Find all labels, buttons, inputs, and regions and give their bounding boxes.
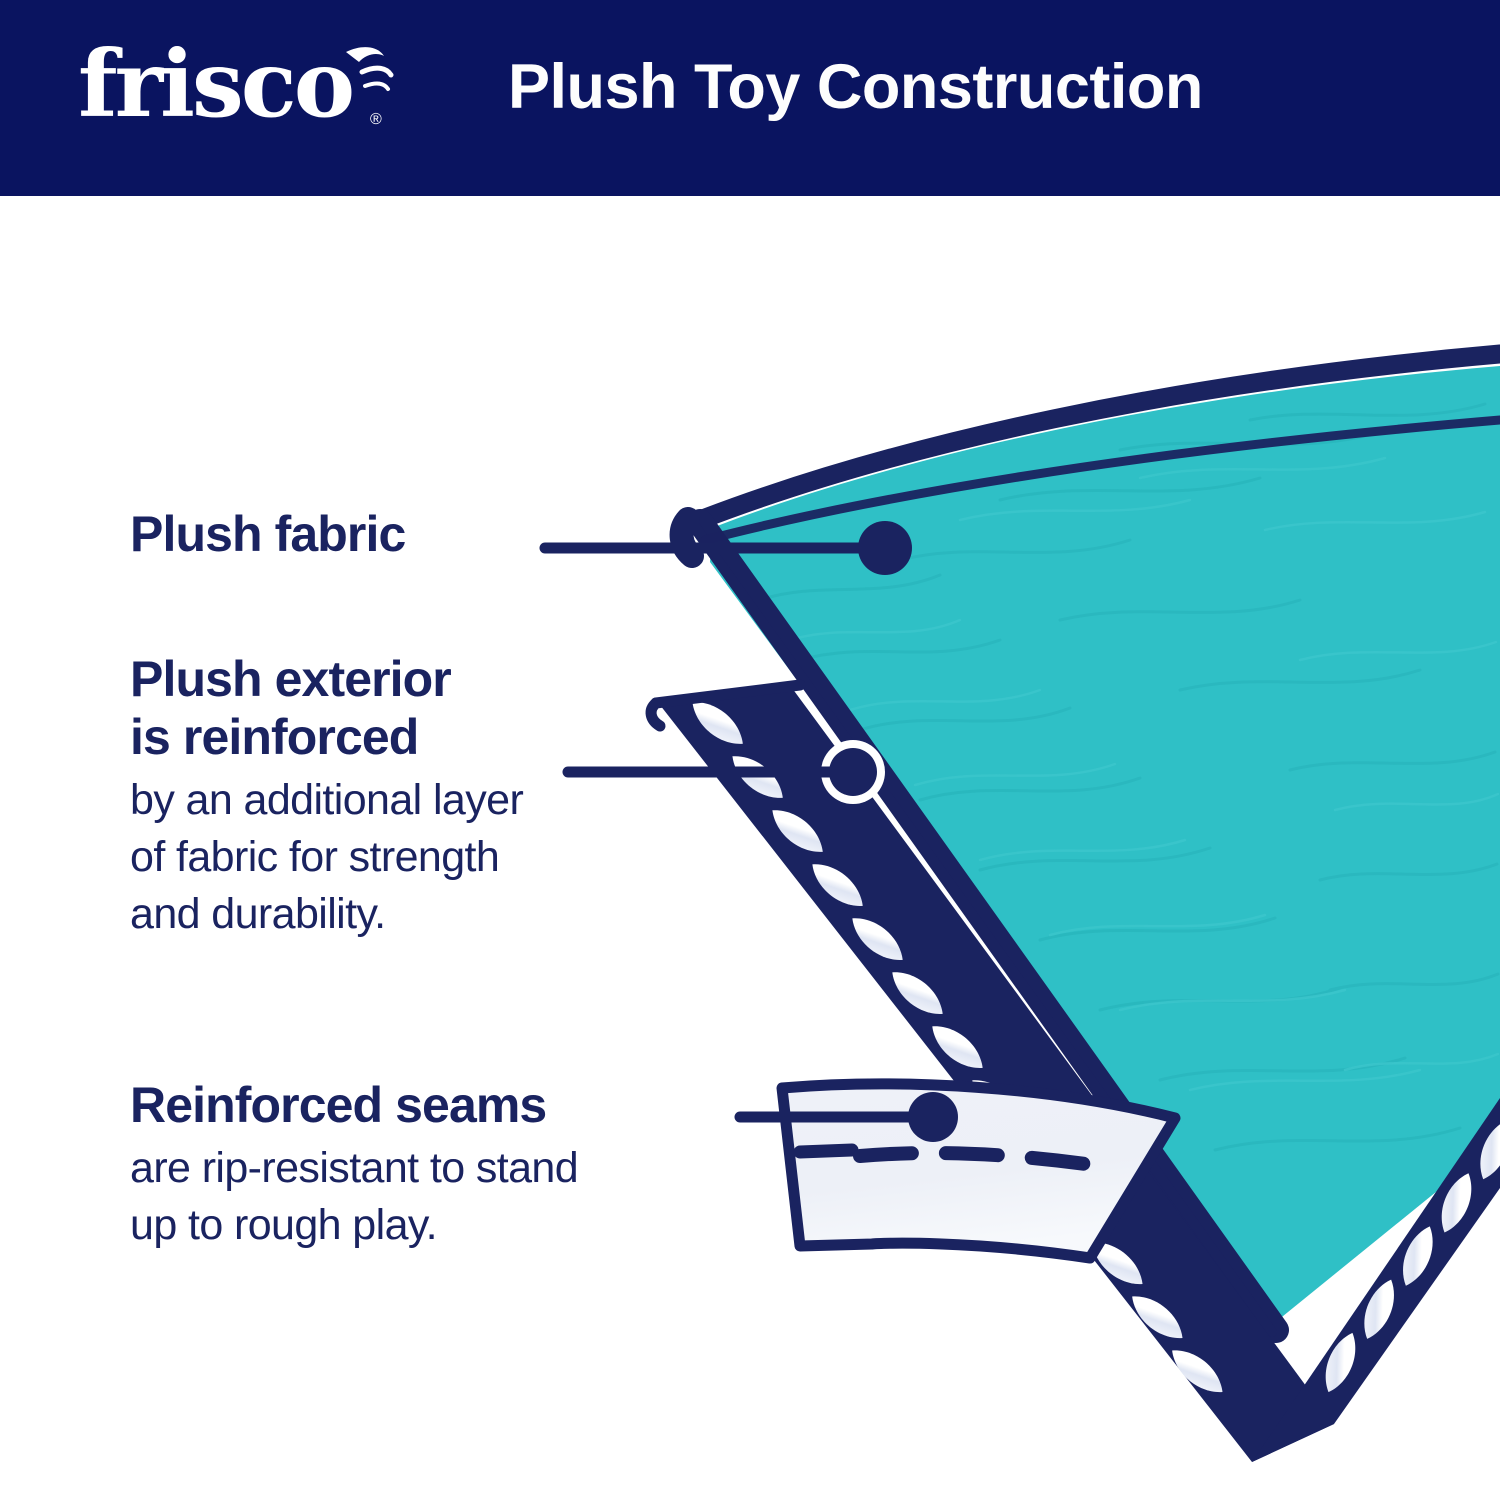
- leader-plush-fabric: [545, 521, 912, 575]
- callout-reinforced-seams-heading: Reinforced seams: [130, 1076, 810, 1134]
- reinforced-seam-flap: [782, 1084, 1175, 1258]
- stitch-dashed-line: [860, 1153, 1100, 1166]
- leader-dot-reinforced-seams: [908, 1092, 958, 1142]
- leader-dot-plush-fabric: [858, 521, 912, 575]
- leader-dot-reinforced-exterior: [829, 748, 877, 796]
- callout-reinforced-exterior-heading: Plush exterior is reinforced: [130, 650, 730, 766]
- callout-plush-fabric-heading: Plush fabric: [130, 505, 560, 563]
- plush-fabric-panel: [700, 354, 1500, 1325]
- callout-plush-fabric: Plush fabric: [130, 505, 560, 563]
- callout-reinforced-exterior: Plush exterior is reinforced by an addit…: [130, 650, 730, 942]
- callout-reinforced-seams-body: are rip-resistant to stand up to rough p…: [130, 1140, 810, 1254]
- callout-reinforced-exterior-body: by an additional layer of fabric for str…: [130, 772, 730, 942]
- page-title: Plush Toy Construction: [508, 48, 1203, 127]
- frisco-logo: frisco ®: [78, 36, 398, 146]
- infographic-page: frisco ® Plush Toy Construction: [0, 0, 1500, 1500]
- header-bar: frisco ® Plush Toy Construction: [0, 0, 1500, 196]
- logo-swoosh-icon: [78, 36, 398, 146]
- callout-reinforced-seams: Reinforced seams are rip-resistant to st…: [130, 1076, 810, 1254]
